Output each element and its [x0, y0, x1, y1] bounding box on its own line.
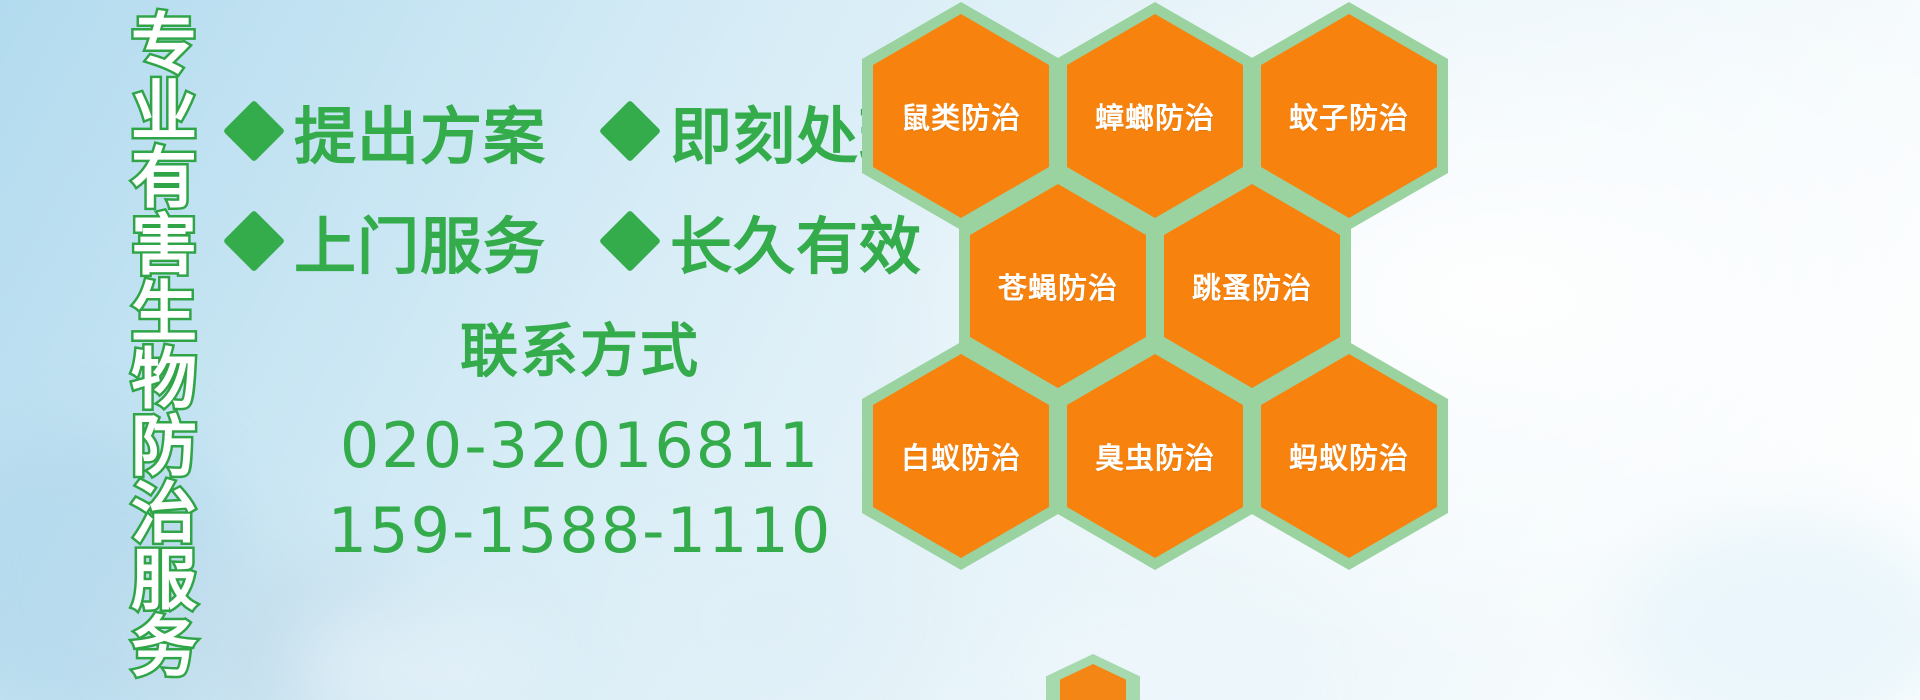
contact-block: 联系方式 020-32016811 159-1588-1110 — [300, 318, 860, 574]
phone-number-landline[interactable]: 020-32016811 — [300, 403, 860, 489]
feature-label: 上门服务 — [294, 196, 546, 286]
vertical-brand-title: 专 业 有 害 生 物 防 治 服 务 — [112, 12, 216, 692]
service-label: 白蚁防治 — [862, 342, 1060, 570]
vertical-title-char: 务 — [131, 615, 197, 682]
feature-label: 提出方案 — [294, 86, 546, 176]
background-blur-blob — [1620, 520, 1920, 700]
service-hexagon-grid: 鼠类防治 蟑螂防治 蚊子防治 苍蝇防治 跳蚤防治 白蚁防治 — [856, 0, 1456, 552]
vertical-title-char: 服 — [131, 548, 197, 615]
vertical-title-char: 防 — [131, 414, 197, 481]
vertical-title-char: 有 — [131, 146, 197, 213]
diamond-bullet-icon — [223, 210, 285, 272]
diamond-bullet-icon — [599, 210, 661, 272]
contact-heading: 联系方式 — [300, 318, 860, 385]
feature-item-onsite-service: 上门服务 — [232, 196, 546, 286]
phone-number-mobile[interactable]: 159-1588-1110 — [300, 488, 860, 574]
vertical-title-char: 物 — [131, 347, 197, 414]
background-blur-blob — [300, 600, 540, 700]
vertical-title-char: 治 — [131, 481, 197, 548]
service-hexagon-bedbug[interactable]: 臭虫防治 — [1056, 342, 1254, 570]
vertical-title-char: 害 — [131, 213, 197, 280]
service-label: 臭虫防治 — [1056, 342, 1254, 570]
service-hexagon-termite[interactable]: 白蚁防治 — [862, 342, 1060, 570]
vertical-title-char: 专 — [131, 12, 197, 79]
service-label: 蚂蚁防治 — [1250, 342, 1448, 570]
pest-control-banner: 专 业 有 害 生 物 防 治 服 务 提出方案 即刻处理 上门服务 长久有效 — [0, 0, 1920, 700]
diamond-bullet-icon — [223, 100, 285, 162]
diamond-bullet-icon — [599, 100, 661, 162]
feature-row: 提出方案 即刻处理 — [232, 86, 922, 176]
vertical-title-char: 业 — [131, 79, 197, 146]
feature-row: 上门服务 长久有效 — [232, 196, 922, 286]
feature-item-propose-plan: 提出方案 — [232, 86, 546, 176]
vertical-title-char: 生 — [131, 280, 197, 347]
service-hexagon-ant[interactable]: 蚂蚁防治 — [1250, 342, 1448, 570]
